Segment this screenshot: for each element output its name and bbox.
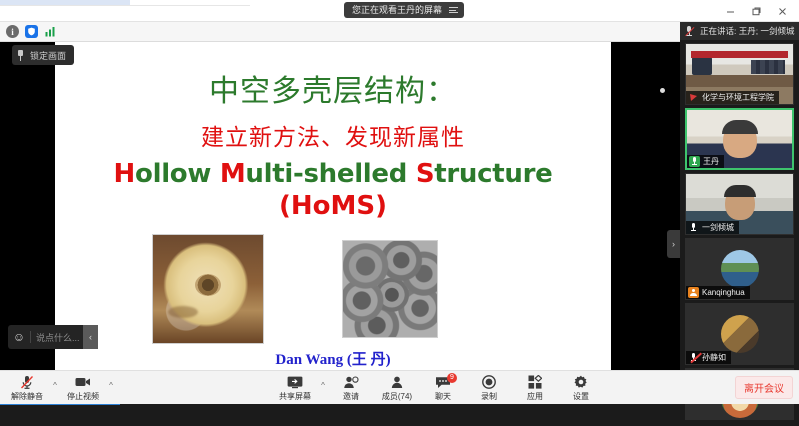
apps-button[interactable]: 应用: [512, 372, 558, 404]
apps-icon: [528, 375, 542, 390]
mic-muted-icon: [20, 375, 34, 390]
mic-muted-icon: [685, 26, 694, 36]
video-tile-list[interactable]: 化学与环境工程学院 王丹: [680, 40, 799, 420]
participant-label: 孙静如: [686, 351, 731, 364]
participants-icon: [389, 375, 405, 390]
avatar: [721, 315, 759, 353]
share-banner-text: 您正在观看王丹的屏幕: [352, 2, 442, 18]
chat-unread-badge: 9: [447, 373, 457, 383]
meeting-body: i 中空多壳层结构： 建立新方法、发现新属性 Hollow Multi-shel…: [0, 22, 799, 426]
title-bar: 您正在观看王丹的屏幕: [0, 0, 799, 22]
unmute-button[interactable]: 解除静音: [4, 372, 50, 404]
participant-label: 一剑倾城: [686, 221, 739, 234]
video-tile[interactable]: 化学与环境工程学院: [685, 43, 794, 105]
slide-acronym: (HoMS): [55, 191, 611, 221]
active-speaker-bar: 正在讲话: 王丹; 一剑倾城: [680, 22, 799, 40]
share-menu-icon[interactable]: [449, 7, 458, 13]
share-screen-icon: [287, 375, 303, 390]
leave-meeting-label: 离开会议: [744, 384, 784, 395]
settings-button[interactable]: 设置: [558, 372, 604, 404]
chat-label: 聊天: [435, 391, 451, 402]
audio-options-caret[interactable]: ^: [50, 372, 60, 404]
scroll-indicator: [0, 404, 120, 405]
participant-name: Kanqinghua: [702, 288, 745, 297]
toolbar-left-group: 解除静音 ^ 停止视频 ^: [4, 372, 116, 404]
record-button[interactable]: 录制: [466, 372, 512, 404]
meeting-window: 您正在观看王丹的屏幕 i: [0, 0, 799, 426]
chat-collapse-label: ‹: [89, 332, 92, 342]
slide-subtitle-cn: 建立新方法、发现新属性: [55, 118, 611, 152]
video-tile[interactable]: 孙静如: [685, 303, 794, 365]
participant-name: 王丹: [703, 156, 719, 167]
unmute-label: 解除静音: [11, 391, 43, 402]
close-button[interactable]: [769, 1, 795, 21]
settings-label: 设置: [573, 391, 589, 402]
participants-panel: 正在讲话: 王丹; 一剑倾城 化学与环境工程学院: [680, 22, 799, 426]
participants-button[interactable]: 成员(74): [374, 372, 420, 404]
invite-icon: [343, 375, 359, 390]
active-speaker-text: 正在讲话: 王丹; 一剑倾城: [700, 25, 794, 37]
mic-on-icon: [689, 156, 700, 167]
minimize-button[interactable]: [717, 1, 743, 21]
video-tile[interactable]: 王丹: [685, 108, 794, 170]
shared-screen-stage[interactable]: 中空多壳层结构： 建立新方法、发现新属性 Hollow Multi-shelle…: [0, 42, 680, 392]
mic-muted-icon: [688, 352, 699, 363]
window-controls: [717, 0, 795, 22]
info-icon[interactable]: i: [6, 25, 19, 38]
leave-meeting-button[interactable]: 离开会议: [735, 376, 793, 399]
slide-title-en: Hollow Multi-shelled Structure: [55, 159, 611, 189]
panel-expand-button[interactable]: ›: [667, 230, 680, 258]
video-tile[interactable]: Kanqinghua: [685, 238, 794, 300]
signal-bars-icon[interactable]: [44, 25, 57, 38]
panel-expand-label: ›: [672, 239, 675, 249]
emoji-icon[interactable]: ☺: [8, 325, 30, 349]
lock-view-button[interactable]: 锁定画面: [12, 45, 74, 65]
record-label: 录制: [481, 391, 497, 402]
shield-icon[interactable]: [25, 25, 38, 38]
share-screen-label: 共享屏幕: [279, 391, 311, 402]
slide-figures: [55, 234, 611, 349]
participant-icon: [688, 287, 699, 298]
video-camera-icon: [75, 375, 91, 390]
gear-icon: [574, 375, 588, 390]
video-tile[interactable]: 一剑倾城: [685, 173, 794, 235]
restore-button[interactable]: [743, 1, 769, 21]
room-banner: [691, 51, 787, 58]
participant-label: 王丹: [687, 155, 724, 168]
chat-button[interactable]: 9 聊天: [420, 372, 466, 404]
apps-label: 应用: [527, 391, 543, 402]
banner-icon: [688, 92, 699, 103]
meeting-toolbar: 解除静音 ^ 停止视频 ^: [0, 370, 799, 404]
participant-name: 化学与环境工程学院: [702, 92, 774, 103]
video-options-caret[interactable]: ^: [106, 372, 116, 404]
chat-collapse-button[interactable]: ‹: [83, 325, 98, 349]
pin-icon: [16, 50, 25, 61]
hollow-sphere-photo: [152, 234, 264, 344]
lock-view-label: 锁定画面: [30, 49, 66, 62]
share-screen-button[interactable]: 共享屏幕: [272, 372, 318, 404]
participant-name: 一剑倾城: [702, 222, 734, 233]
participants-label: 成员(74): [382, 391, 412, 402]
remote-cursor: [660, 88, 665, 93]
share-options-caret[interactable]: ^: [318, 372, 328, 404]
mic-off-icon: [688, 222, 699, 233]
participant-label: Kanqinghua: [686, 286, 750, 299]
tem-micrograph: [342, 240, 438, 338]
presentation-slide: 中空多壳层结构： 建立新方法、发现新属性 Hollow Multi-shelle…: [55, 42, 611, 392]
record-icon: [482, 375, 496, 390]
invite-button[interactable]: 邀请: [328, 372, 374, 404]
participant-name: 孙静如: [702, 352, 726, 363]
slide-author: Dan Wang (王 丹): [55, 348, 611, 369]
browser-tab-underline: [0, 5, 250, 6]
share-status-banner[interactable]: 您正在观看王丹的屏幕: [344, 2, 464, 18]
participant-label: 化学与环境工程学院: [686, 91, 779, 104]
avatar: [721, 250, 759, 288]
stop-video-label: 停止视频: [67, 391, 99, 402]
invite-label: 邀请: [343, 391, 359, 402]
stop-video-button[interactable]: 停止视频: [60, 372, 106, 404]
toolbar-center-group: 共享屏幕 ^ 邀请: [272, 372, 604, 404]
slide-title-cn: 中空多壳层结构：: [55, 66, 611, 110]
